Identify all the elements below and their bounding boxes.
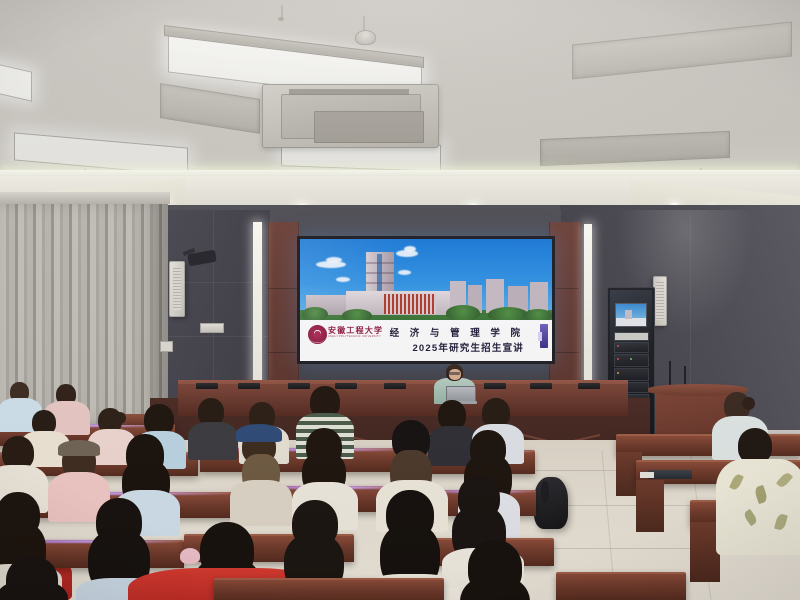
cap-icon-blue xyxy=(236,424,282,442)
wood-panel-seam-left-2 xyxy=(268,352,297,353)
hair-bow-icon xyxy=(180,548,200,564)
cap-icon xyxy=(58,440,100,456)
wall-speaker-right-icon xyxy=(653,276,667,326)
speaker-grille-right xyxy=(656,282,664,320)
notebook-on-desk xyxy=(648,470,692,479)
backpack-on-floor xyxy=(534,477,568,529)
wood-panel-seam-left xyxy=(268,288,297,289)
desk-row-5-right xyxy=(556,572,686,600)
presenter-face xyxy=(449,369,461,380)
vertical-light-strip-left xyxy=(253,222,262,398)
lecture-hall-photo: 安徽工程大学 ANHUI POLYTECHNIC UNIVERSITY 经 济 … xyxy=(0,0,800,600)
table-microphone-7 xyxy=(530,383,552,389)
table-microphone-5 xyxy=(384,383,406,389)
desk-side-right-2 xyxy=(636,480,664,532)
presenter-head xyxy=(446,364,463,381)
person-body xyxy=(230,480,292,526)
table-microphone-4 xyxy=(335,383,357,389)
person-body xyxy=(188,422,238,460)
table-microphone-8 xyxy=(578,383,600,389)
presenter-glasses-icon xyxy=(449,372,460,375)
wall-power-socket[interactable] xyxy=(160,341,173,352)
desk-row-5-foreground xyxy=(214,578,444,600)
table-microphone-3 xyxy=(288,383,310,389)
desk-row-right-1 xyxy=(616,434,800,456)
wall-connection-plate[interactable] xyxy=(200,323,224,333)
notebook-pages xyxy=(640,472,654,478)
speaker-grille-left xyxy=(173,268,181,310)
curtain-rail xyxy=(0,192,170,204)
person-hair-bun xyxy=(742,397,755,410)
wall-wood-panel-left xyxy=(268,222,299,402)
vertical-light-strip-right xyxy=(584,224,592,384)
wall-speaker-left-icon xyxy=(169,261,185,317)
table-microphone-2 xyxy=(238,383,260,389)
screen-glare xyxy=(300,239,552,361)
presentation-screen[interactable]: 安徽工程大学 ANHUI POLYTECHNIC UNIVERSITY 经 济 … xyxy=(297,236,555,364)
backpack-strap xyxy=(541,481,549,503)
table-microphone-6 xyxy=(484,383,506,389)
person-hair-bun xyxy=(114,412,126,424)
table-microphone-1 xyxy=(196,383,218,389)
